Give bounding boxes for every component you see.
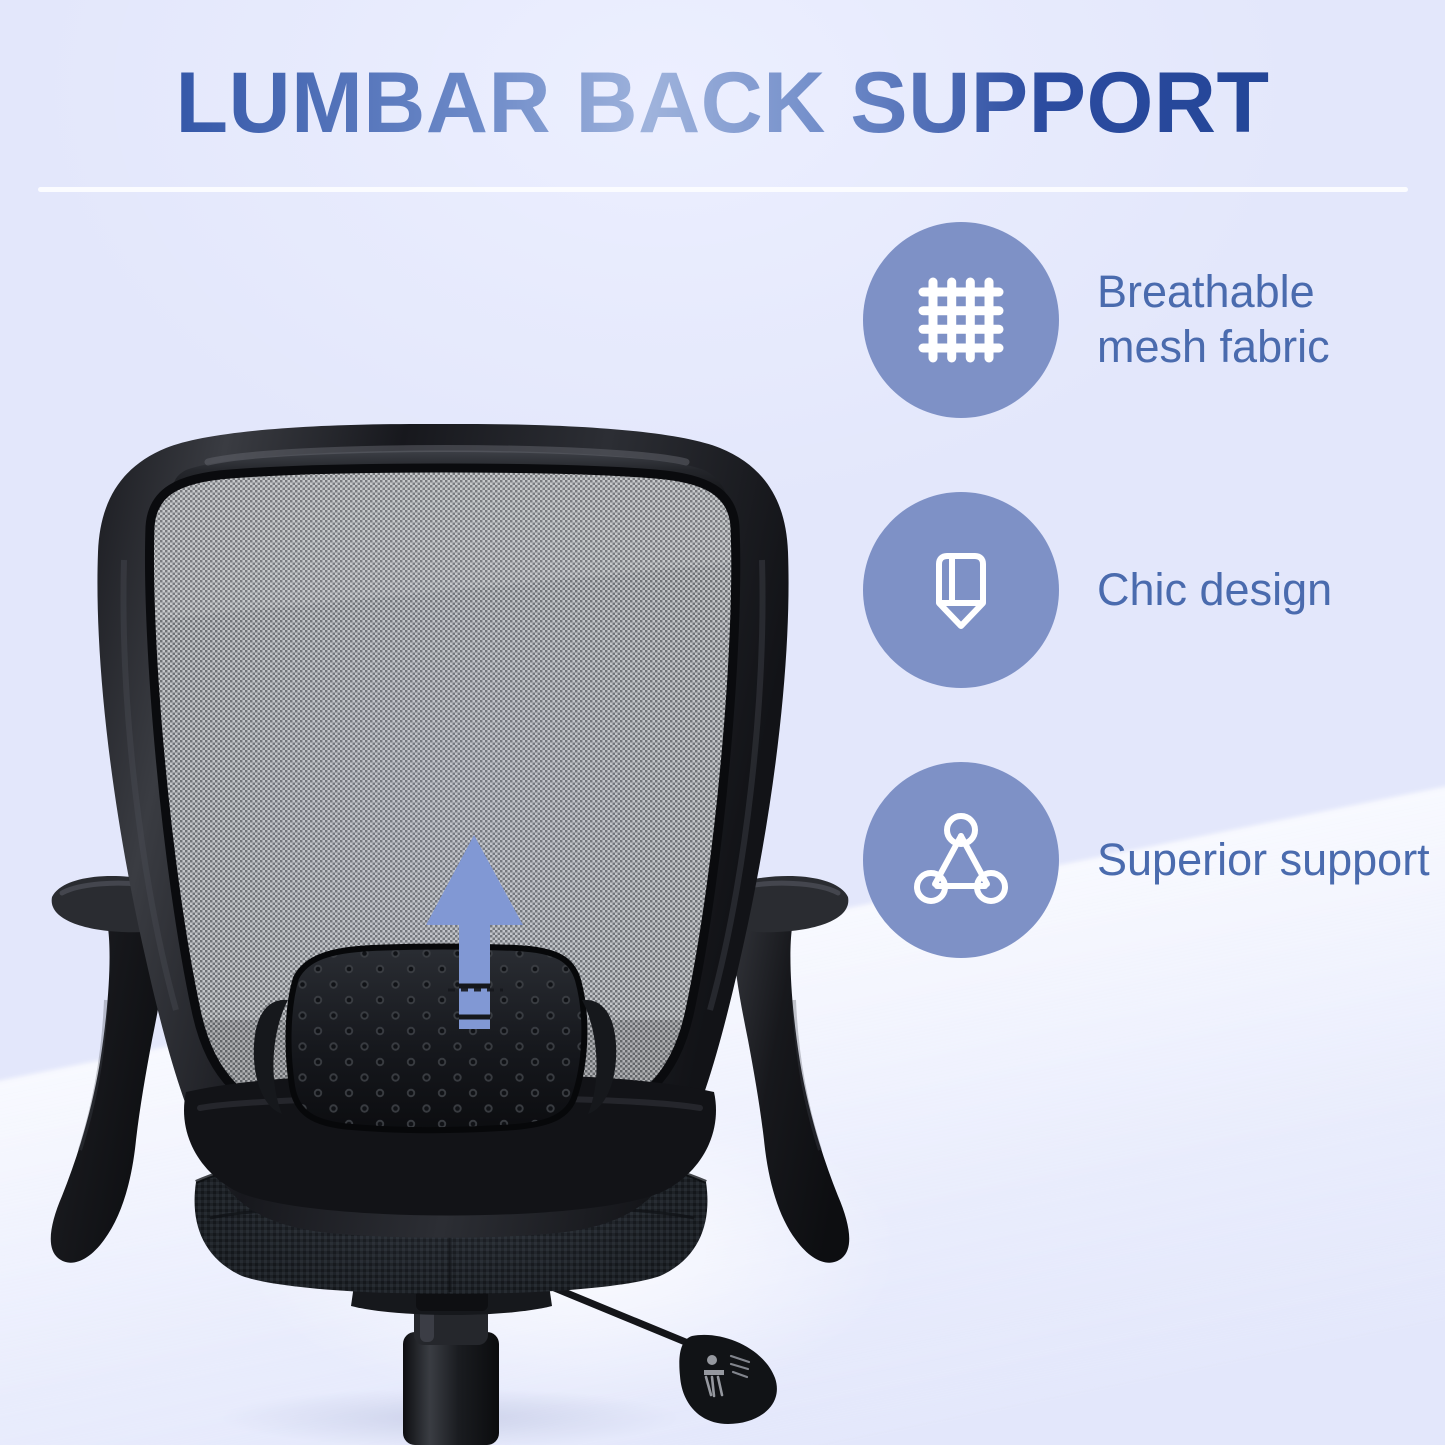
triangle-nodes-icon bbox=[909, 808, 1013, 912]
mesh-grid-icon bbox=[911, 270, 1011, 370]
feature-label-3: Superior support bbox=[1097, 833, 1430, 888]
feature-label-1: Breathable mesh fabric bbox=[1097, 265, 1330, 375]
feature-label-2: Chic design bbox=[1097, 563, 1332, 618]
feature-icon-badge-2 bbox=[863, 492, 1059, 688]
feature-item-breathable-mesh[interactable]: Breathable mesh fabric bbox=[863, 222, 1443, 418]
feature-item-superior-support[interactable]: Superior support bbox=[863, 762, 1443, 958]
pencil-icon bbox=[911, 540, 1011, 640]
lever-tag bbox=[679, 1335, 777, 1424]
product-image-office-chair bbox=[0, 0, 900, 1445]
feature-icon-badge-1 bbox=[863, 222, 1059, 418]
feature-list: Breathable mesh fabric Chic design bbox=[863, 222, 1443, 958]
feature-item-chic-design[interactable]: Chic design bbox=[863, 492, 1443, 688]
feature-icon-badge-3 bbox=[863, 762, 1059, 958]
infographic-canvas: LUMBAR BACK SUPPORT bbox=[0, 0, 1445, 1445]
chair-gas-cylinder bbox=[403, 1300, 499, 1445]
chair-lumbar-support-pad bbox=[254, 946, 616, 1136]
